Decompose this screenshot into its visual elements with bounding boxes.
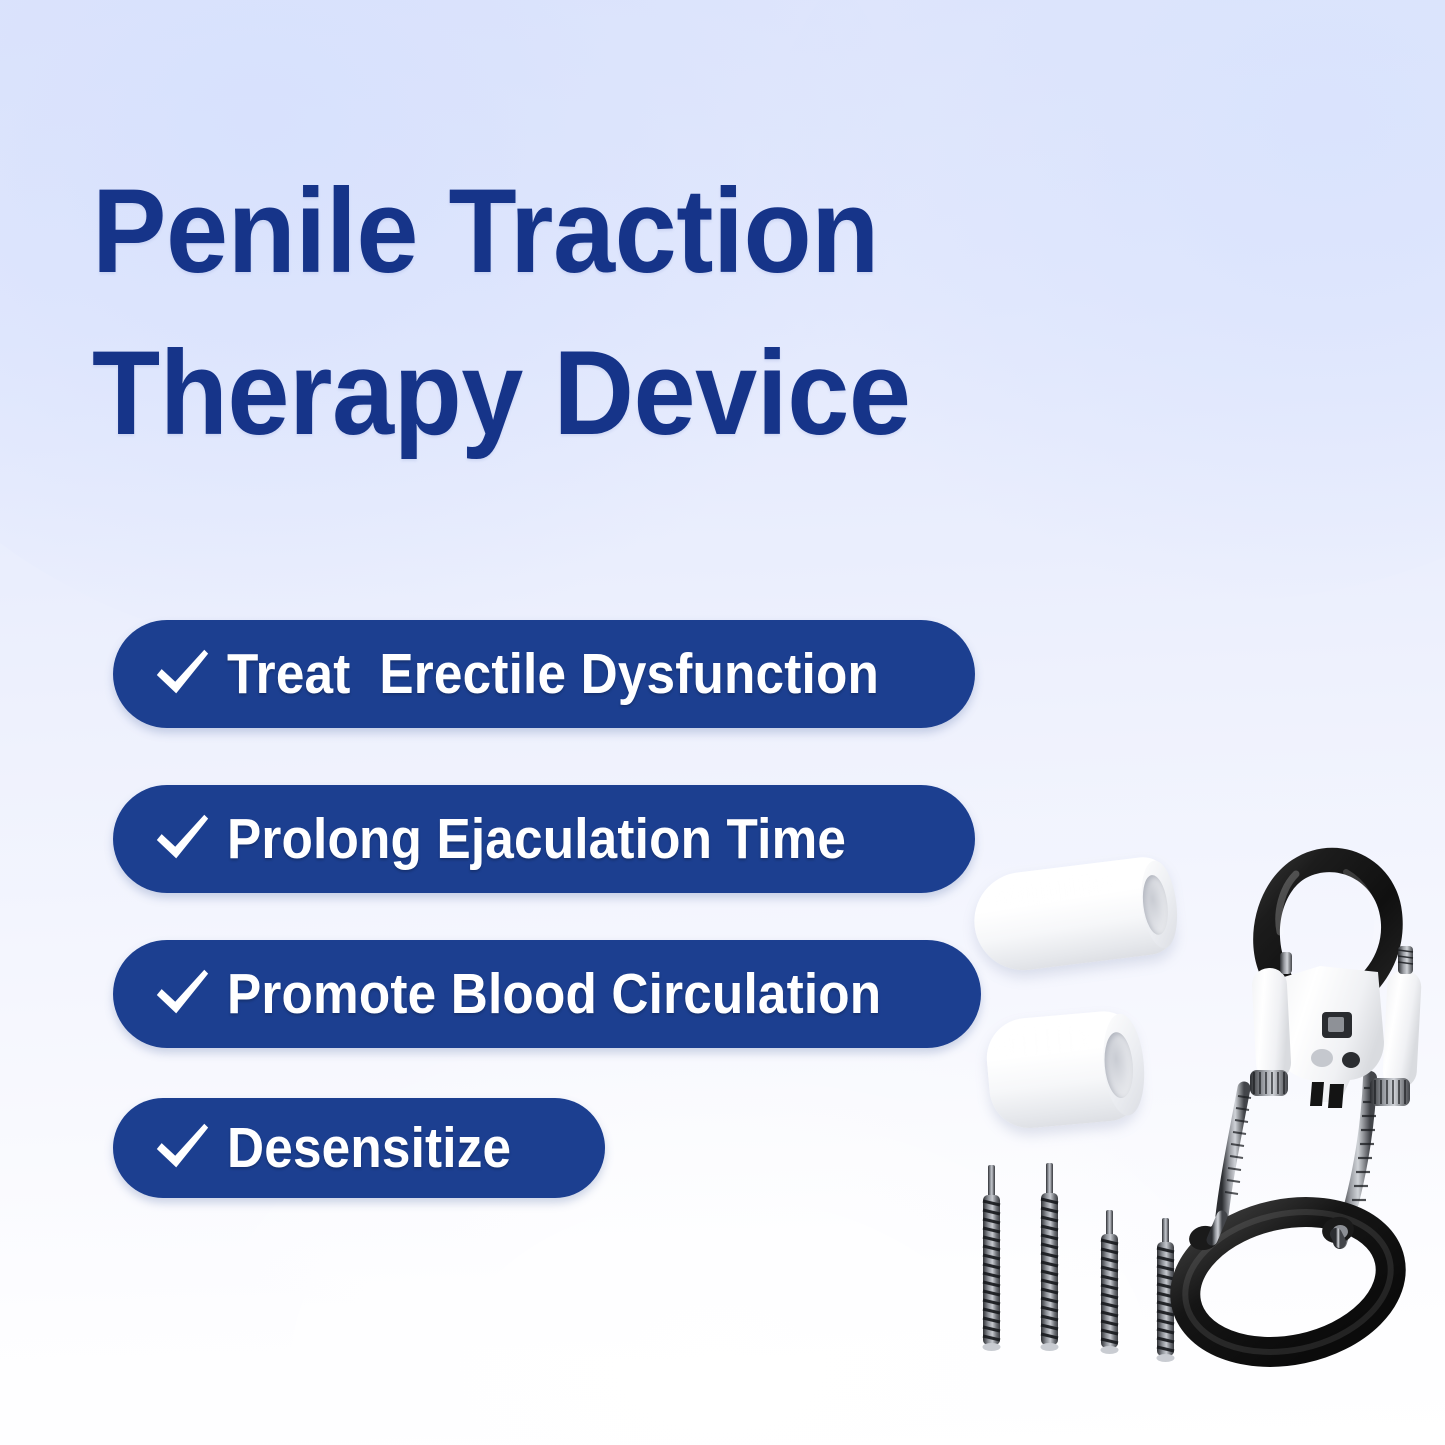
silicone-sleeve-short	[983, 1009, 1142, 1132]
sleeve-highlight	[999, 1024, 1094, 1061]
sleeve-highlight	[990, 872, 1115, 912]
vent-hole-left	[1311, 1049, 1333, 1067]
product-banner: Penile Traction Therapy Device Treat Ere…	[0, 0, 1445, 1445]
benefit-pill-treat-erectile-dysfunction[interactable]: Treat Erectile Dysfunction	[113, 620, 975, 728]
traction-device-body	[1170, 830, 1445, 1400]
benefit-list: Treat Erectile Dysfunction Prolong Ejacu…	[113, 620, 981, 1198]
benefit-label: Promote Blood Circulation	[227, 966, 881, 1023]
benefit-pill-promote-blood-circulation[interactable]: Promote Blood Circulation	[113, 940, 981, 1048]
knurled-nut-right	[1370, 1078, 1410, 1106]
check-icon	[151, 963, 213, 1025]
benefit-pill-prolong-ejaculation-time[interactable]: Prolong Ejaculation Time	[113, 785, 975, 893]
benefit-label: Prolong Ejaculation Time	[227, 811, 846, 868]
tension-spring-long-2	[1034, 1163, 1064, 1355]
clip-left	[1310, 1082, 1324, 1106]
page-title: Penile Traction Therapy Device	[92, 150, 1022, 474]
post-left	[1251, 967, 1292, 1081]
product-photo-group	[930, 830, 1445, 1410]
check-icon	[151, 808, 213, 870]
check-icon	[151, 1117, 213, 1179]
benefit-label: Treat Erectile Dysfunction	[227, 646, 879, 703]
vent-hole-right	[1342, 1052, 1360, 1068]
knurled-nut-left	[1250, 1070, 1288, 1096]
tension-spring-long-1	[976, 1165, 1006, 1355]
benefit-label: Desensitize	[227, 1120, 511, 1177]
screw-stud-left	[1280, 952, 1292, 974]
tension-spring-short-1	[1094, 1210, 1124, 1358]
check-icon	[151, 643, 213, 705]
benefit-pill-desensitize[interactable]: Desensitize	[113, 1098, 605, 1198]
threaded-rod-left	[1222, 1088, 1244, 1216]
clip-right	[1328, 1084, 1344, 1108]
post-right	[1382, 969, 1422, 1089]
base-ring	[1172, 1194, 1404, 1370]
silicone-sleeve-domed	[969, 854, 1177, 975]
